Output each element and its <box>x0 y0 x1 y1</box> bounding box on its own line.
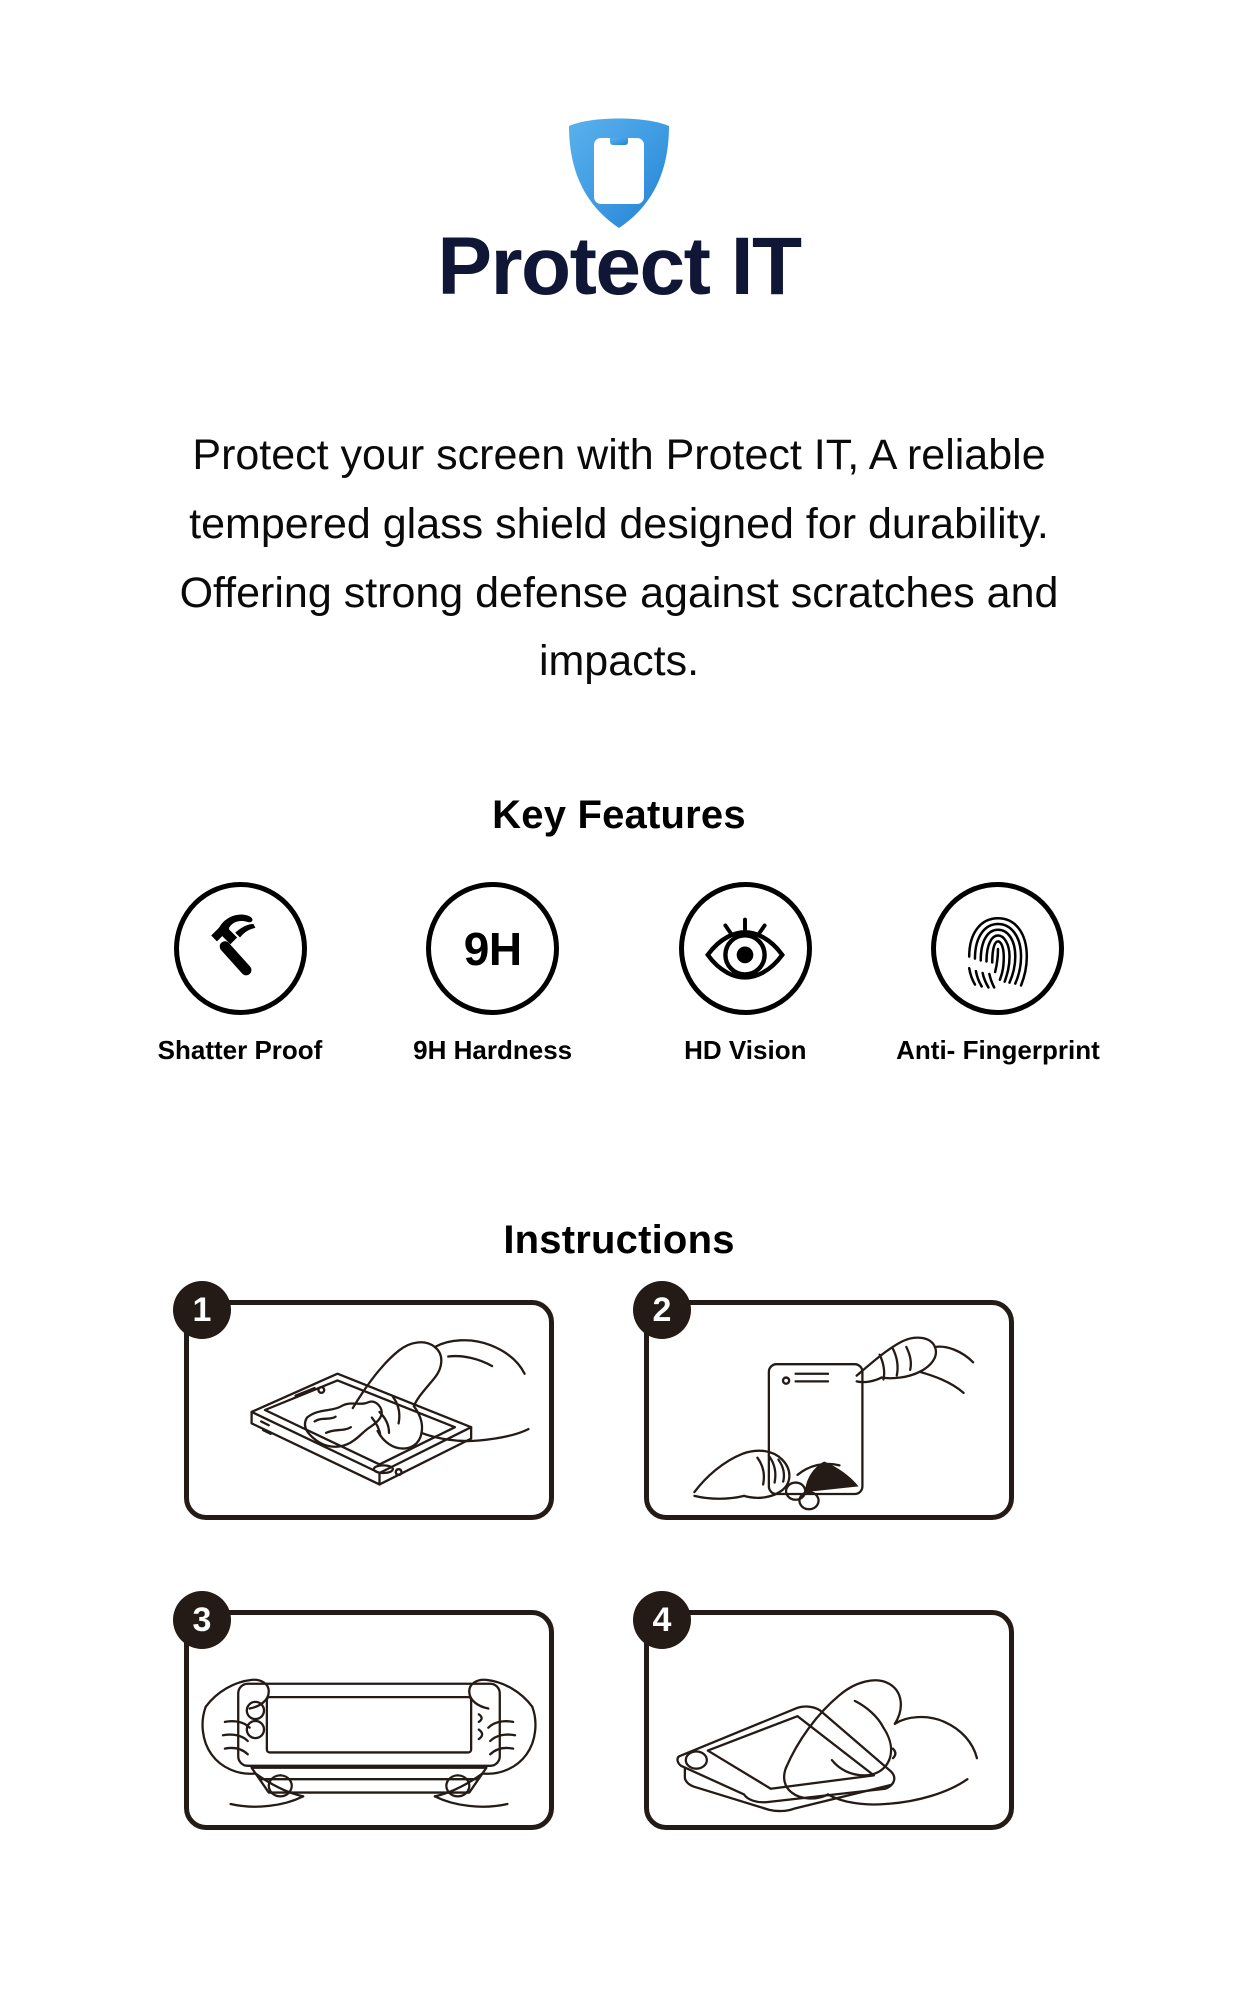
step-number-badge: 2 <box>633 1281 691 1339</box>
step-number-badge: 1 <box>173 1281 231 1339</box>
feature-hd-vision: HD Vision <box>619 882 871 1066</box>
brand-header: Protect IT <box>0 112 1238 310</box>
step-number-badge: 4 <box>633 1591 691 1649</box>
feature-label: 9H Hardness <box>413 1035 572 1066</box>
instruction-step-card: 1 <box>184 1300 554 1520</box>
intro-description: Protect your screen with Protect IT, A r… <box>114 421 1124 696</box>
feature-9h-hardness: 9H 9H Hardness <box>367 882 619 1066</box>
clean-screen-with-cloth-illustration <box>189 1305 549 1515</box>
key-features-row: Shatter Proof 9H 9H Hardness <box>114 882 1124 1066</box>
instruction-step-card: 2 <box>644 1300 1014 1520</box>
shield-phone-icon <box>563 112 675 230</box>
peel-film-from-glass-illustration <box>649 1305 1009 1515</box>
step-number-badge: 3 <box>173 1591 231 1649</box>
smooth-out-bubbles-illustration <box>649 1615 1009 1825</box>
eye-icon <box>679 882 812 1015</box>
feature-label: HD Vision <box>684 1035 806 1066</box>
instruction-step-card: 4 <box>644 1610 1014 1830</box>
hammer-icon <box>174 882 307 1015</box>
key-features-heading: Key Features <box>0 793 1238 838</box>
hardness-9h-text: 9H <box>464 926 522 972</box>
hardness-9h-icon: 9H <box>426 882 559 1015</box>
align-glass-on-phone-illustration <box>189 1615 549 1825</box>
instructions-grid: 1 <box>184 1300 1054 1830</box>
feature-label: Anti- Fingerprint <box>896 1035 1100 1066</box>
product-info-page: Protect IT Protect your screen with Prot… <box>0 0 1238 2000</box>
instruction-step-card: 3 <box>184 1610 554 1830</box>
feature-anti-fingerprint: Anti- Fingerprint <box>872 882 1124 1066</box>
feature-label: Shatter Proof <box>158 1035 323 1066</box>
instructions-heading: Instructions <box>0 1218 1238 1263</box>
feature-shatter-proof: Shatter Proof <box>114 882 366 1066</box>
fingerprint-icon <box>931 882 1064 1015</box>
page-title: Protect IT <box>0 224 1238 310</box>
